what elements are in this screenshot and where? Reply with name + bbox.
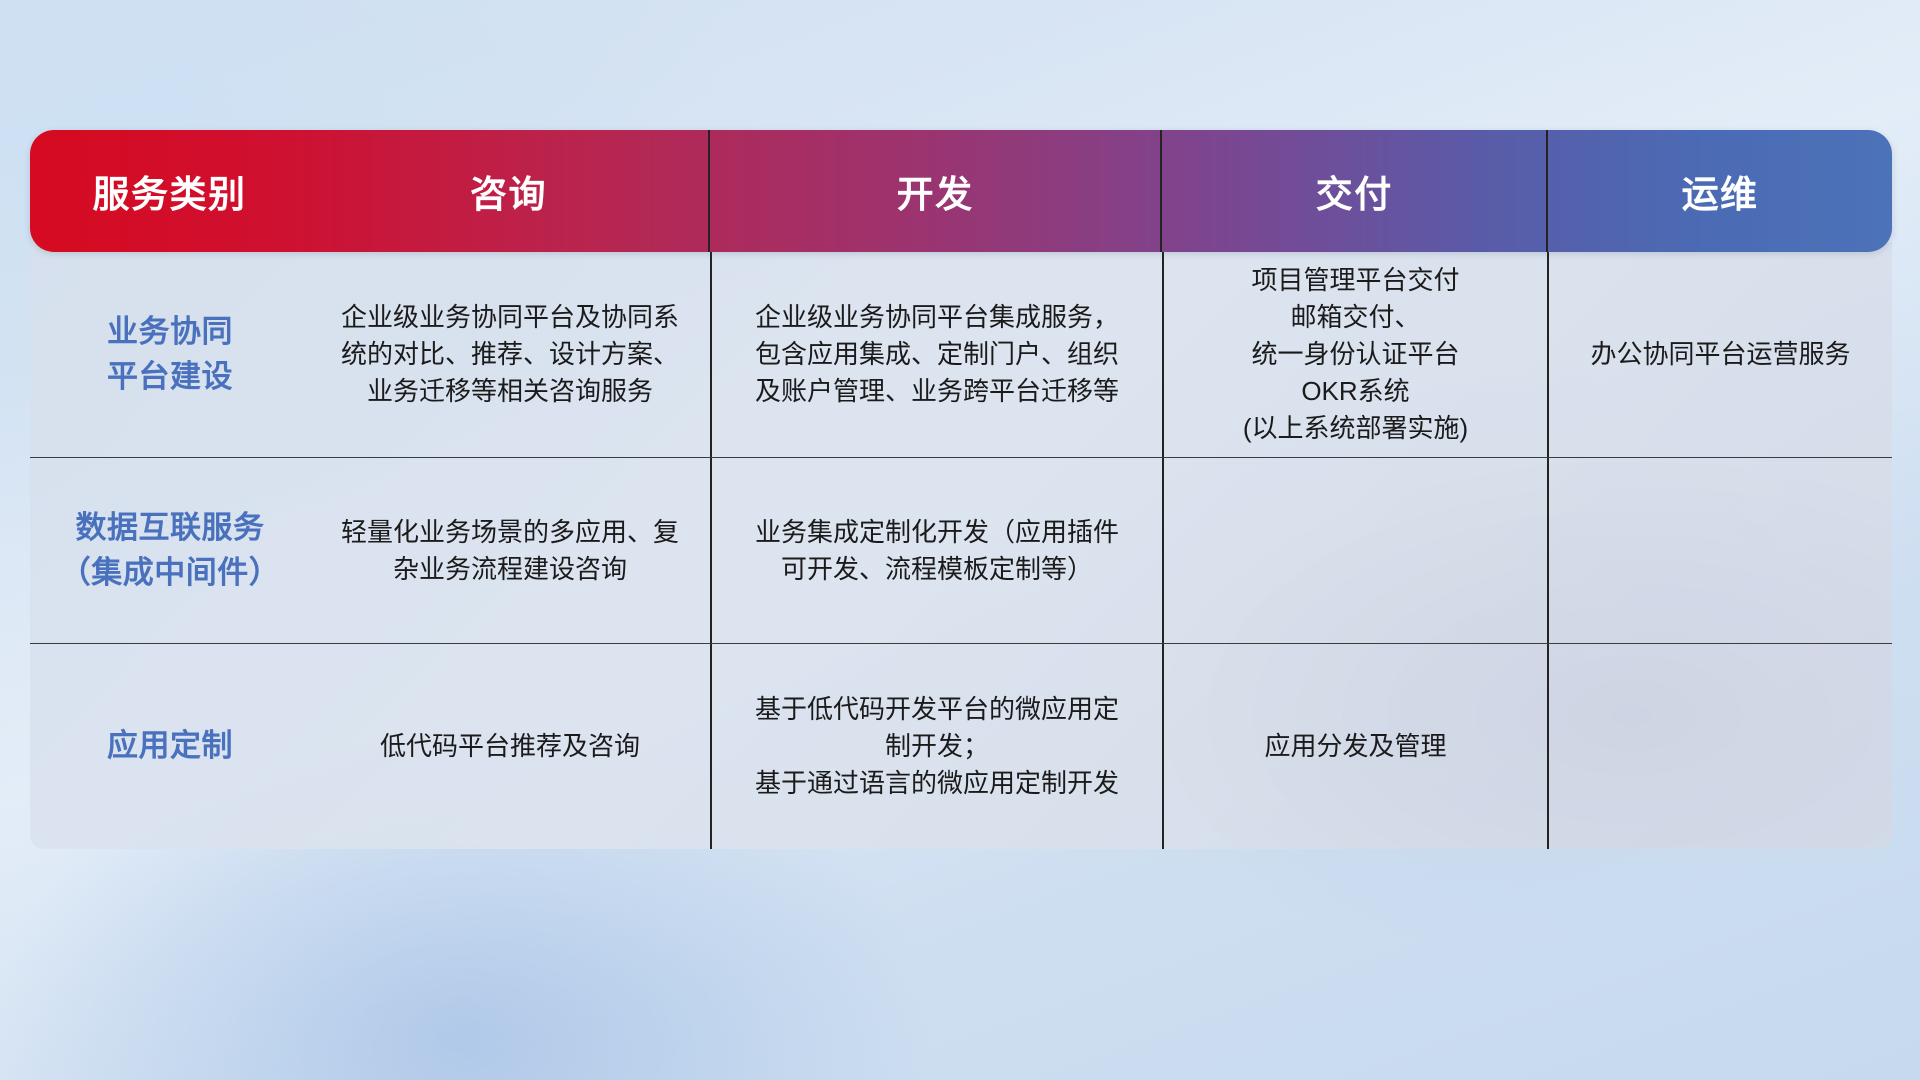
table-cell-development: 业务集成定制化开发（应用插件 可开发、流程模板定制等） (710, 458, 1162, 643)
table-header-label: 交付 (1316, 164, 1393, 218)
table-cell-delivery: 应用分发及管理 (1162, 644, 1547, 849)
table-cell-consulting: 轻量化业务场景的多应用、复 杂业务流程建设咨询 (310, 458, 710, 643)
service-matrix-table: 服务类别 咨询 开发 交付 运维 业务协同 平台建设 企业级业务协同平台及协同系… (30, 130, 1892, 849)
table-cell-category: 业务协同 平台建设 (30, 252, 310, 457)
table-cell-operations (1547, 458, 1892, 643)
table-cell-development: 企业级业务协同平台集成服务， 包含应用集成、定制门户、组织 及账户管理、业务跨平… (710, 252, 1162, 457)
table-header-delivery: 交付 (1160, 130, 1546, 252)
table-cell-consulting: 低代码平台推荐及咨询 (310, 644, 710, 849)
table-header-label: 咨询 (470, 164, 547, 218)
table-header-consulting: 咨询 (309, 130, 708, 252)
table-row: 应用定制 低代码平台推荐及咨询 基于低代码开发平台的微应用定 制开发； 基于通过… (30, 643, 1892, 849)
table-cell-development: 基于低代码开发平台的微应用定 制开发； 基于通过语言的微应用定制开发 (710, 644, 1162, 849)
table-row: 数据互联服务 （集成中间件） 轻量化业务场景的多应用、复 杂业务流程建设咨询 业… (30, 457, 1892, 643)
table-cell-delivery (1162, 458, 1547, 643)
table-cell-consulting: 企业级业务协同平台及协同系 统的对比、推荐、设计方案、 业务迁移等相关咨询服务 (310, 252, 710, 457)
table-header-label: 运维 (1682, 164, 1759, 218)
table-header-label: 服务类别 (93, 164, 247, 218)
table-cell-category: 数据互联服务 （集成中间件） (30, 458, 310, 643)
table-cell-operations (1547, 644, 1892, 849)
table-header-row: 服务类别 咨询 开发 交付 运维 (30, 130, 1892, 252)
table-cell-operations: 办公协同平台运营服务 (1547, 252, 1892, 457)
slide-canvas: 服务类别 咨询 开发 交付 运维 业务协同 平台建设 企业级业务协同平台及协同系… (0, 0, 1920, 1080)
table-row: 业务协同 平台建设 企业级业务协同平台及协同系 统的对比、推荐、设计方案、 业务… (30, 252, 1892, 457)
table-cell-delivery: 项目管理平台交付 邮箱交付、 统一身份认证平台 OKR系统 (以上系统部署实施) (1162, 252, 1547, 457)
table-body: 业务协同 平台建设 企业级业务协同平台及协同系 统的对比、推荐、设计方案、 业务… (30, 242, 1892, 849)
table-header-development: 开发 (708, 130, 1161, 252)
table-cell-category: 应用定制 (30, 644, 310, 849)
table-header-operations: 运维 (1546, 130, 1892, 252)
table-header-label: 开发 (897, 164, 974, 218)
table-header-service-category: 服务类别 (30, 130, 309, 252)
